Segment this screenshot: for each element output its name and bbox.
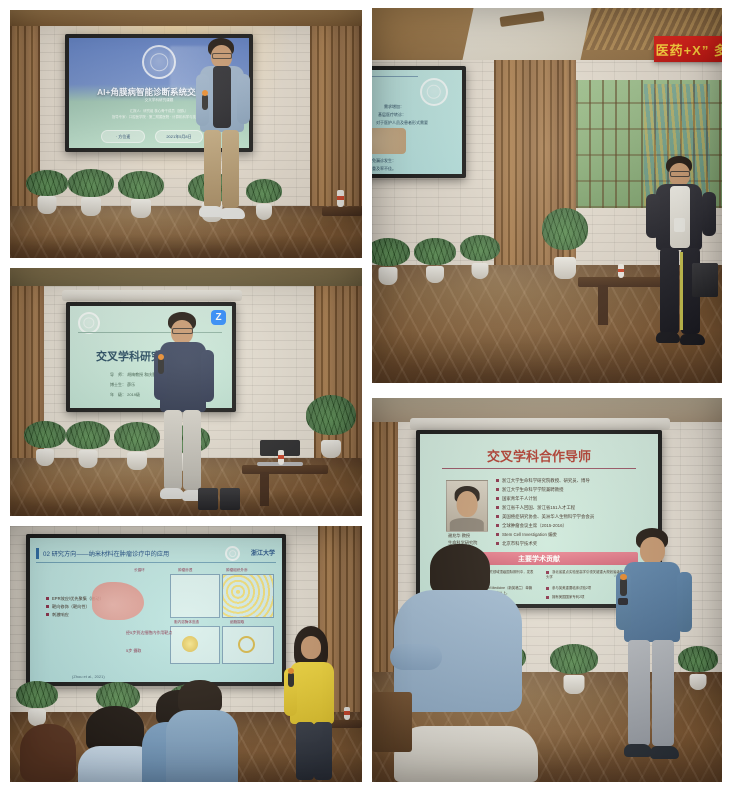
diagram-label: 长循环 — [134, 568, 145, 573]
field-3-value: 2019级 — [127, 392, 140, 397]
portrait-name: 谢兆华 教授 — [448, 533, 470, 539]
projection-screen-2: 需求增加： 基层医疗转诊： 对于医护人员及患者形式需要 避免漏诊发生： 构成重及… — [372, 66, 466, 178]
wood-panel-right — [310, 26, 362, 206]
screen-roller-case — [410, 418, 670, 430]
table-leg — [260, 472, 269, 506]
ceiling — [10, 10, 362, 26]
slide-3-field-3: 年 级： 2019级 — [110, 392, 140, 398]
slide-2-line-5: 构成重及率不佳。 — [372, 166, 396, 172]
slide-1-pill-left: · 方位速 — [101, 130, 145, 143]
slide-4-accent-bar — [36, 548, 39, 559]
plant-pot — [550, 646, 598, 694]
cell-graphic — [182, 636, 198, 652]
plant-pot — [68, 170, 114, 216]
slide-rule — [442, 468, 636, 469]
slide-2-line-1: 需求增加： — [384, 104, 404, 110]
advisor-bullet: Stem Cell Investigation 编委 — [496, 532, 557, 538]
slide-1-subtitle: 交叉学科研究课题 — [145, 98, 174, 103]
photo-4[interactable]: 02 研究方向——纳米材料在肿瘤诊疗中的应用 浙江大学 EPR效应/优先聚集（被… — [10, 526, 362, 782]
glasses-icon — [212, 53, 232, 59]
presenter-5 — [610, 528, 694, 780]
projection-screen-4: 02 研究方向——纳米材料在肿瘤诊疗中的应用 浙江大学 EPR效应/优先聚集（被… — [26, 534, 286, 686]
university-seal-icon — [420, 78, 448, 106]
slide-4-university: 浙江大学 — [251, 548, 275, 557]
plant-pot — [118, 172, 164, 218]
photo-5[interactable]: 交叉学科合作导师 谢兆华 教授 生命科学研究院 浙江大学生命科学研究院教授、研究… — [372, 398, 722, 782]
microphone-icon — [158, 358, 164, 374]
plant-pot — [66, 423, 110, 468]
tall-plant-right — [306, 380, 356, 458]
presenter-1 — [186, 38, 258, 238]
advisor-bullet: 美国癌症研究协会、美洲华人生物科学学会会员 — [496, 514, 594, 520]
laptop-table — [242, 465, 328, 474]
slide-2-line-2: 基层医疗转诊： — [378, 112, 406, 118]
plant-pot — [24, 422, 66, 466]
advisor-bullet: 国家青年千人计划 — [496, 496, 537, 502]
header-number: 02 — [43, 551, 50, 558]
slide-4-header: 02 研究方向——纳米材料在肿瘤诊疗中的应用 — [43, 549, 169, 558]
glasses-icon — [172, 328, 193, 334]
lanyard-badge — [674, 218, 685, 232]
slide-rule — [36, 562, 276, 563]
slide-5-title: 交叉学科合作导师 — [487, 446, 591, 465]
diagram-panel — [170, 574, 220, 618]
diagram-panel — [222, 574, 274, 618]
water-bottle — [344, 707, 350, 720]
sofa-seat — [394, 726, 538, 782]
slide-4-citation: (Zhou et al., 2021) — [72, 674, 105, 679]
advisor-bullet: 全球肿瘤会议主席（2015-2016） — [496, 523, 567, 529]
presenter-3 — [148, 312, 218, 512]
diagram-label: 细胞摄取 — [230, 620, 244, 625]
tall-palm-plant — [542, 193, 588, 279]
plant-pot — [16, 682, 58, 726]
slide-2-line-4: 避免漏诊发生： — [372, 158, 396, 164]
table-leg — [598, 285, 608, 325]
speaker-box — [220, 488, 240, 510]
hall-banner: “医药+X” 多 — [654, 36, 722, 62]
photo-3[interactable]: 交叉学科研究进展报告 导 师： 胡梅教授 和庆鹏研究员 博士生： 薛乐 年 级：… — [10, 268, 362, 516]
header-title: 研究方向——纳米材料在肿瘤诊疗中的应用 — [52, 551, 170, 558]
advisor-bullet: 浙江大学生命科学研究院教授、研究员、博导 — [496, 478, 590, 484]
water-bottle — [278, 450, 284, 465]
microphone-icon — [288, 672, 294, 687]
water-bottle — [618, 264, 624, 278]
tissue-graphic — [92, 582, 144, 620]
slide-4-bullet: 刺激响应 — [46, 612, 69, 618]
advisor-portrait — [446, 480, 488, 532]
plant-pot — [414, 239, 456, 283]
photo-collage: AI+角膜病智能诊断系统交叉研究 交叉学科研究课题 汇报人：研究组 核心骨干成员… — [0, 0, 730, 790]
speaker-box — [198, 488, 218, 510]
field-2-value: 薛乐 — [127, 382, 135, 387]
slide-2: 需求增加： 基层医疗转诊： 对于医护人员及患者形式需要 避免漏诊发生： 构成重及… — [372, 70, 462, 174]
audience-member — [166, 680, 238, 782]
trouser-stripe — [680, 252, 683, 330]
slide-1-credit-1: 汇报人：研究组 核心骨干成员（团队） — [130, 108, 189, 113]
field-2-label: 博士生： — [110, 382, 126, 387]
slide-3-field-2: 博士生： 薛乐 — [110, 382, 135, 388]
audience-member — [16, 724, 86, 782]
field-3-label: 年 级： — [110, 392, 126, 397]
water-bottle — [337, 190, 344, 207]
advisor-bullet: 浙江大学生命科学学院兼聘教授 — [496, 487, 563, 493]
slide-4: 02 研究方向——纳米材料在肿瘤诊疗中的应用 浙江大学 EPR效应/优先聚集（被… — [30, 538, 282, 682]
slide-4-annotation-1: 经5步到达细胞内作用靶点 — [126, 630, 172, 636]
university-seal-icon — [78, 312, 100, 334]
photo-1[interactable]: AI+角膜病智能诊断系统交叉研究 交叉学科研究课题 汇报人：研究组 核心骨干成员… — [10, 10, 362, 258]
screen-roller-case — [62, 290, 242, 301]
photo-2[interactable]: “医药+X” 多 需求增加： 基层医疗转诊： 对于医护人员及患者形式需要 避免漏… — [372, 8, 722, 383]
slide-4-annotation-2: 5步 摄取 — [126, 648, 141, 654]
speaker-box — [692, 263, 718, 297]
plant-pot — [26, 170, 68, 214]
microphone-icon — [202, 94, 208, 110]
advisor-bullet: 浙江省千人回国、浙江省151人才工程 — [496, 505, 575, 511]
slide-image-1 — [372, 128, 406, 154]
field-1-label: 导 师： — [110, 372, 126, 377]
wooden-chair-arm — [372, 692, 412, 752]
slide-rule — [372, 76, 418, 77]
seated-audience-member — [394, 544, 524, 744]
cell-graphic — [238, 636, 255, 653]
university-seal-icon — [225, 546, 240, 561]
diagram-label: 胞内溶酶体逃逸 — [174, 620, 199, 625]
slide-4-bullet: 靶向修饰（靶向性） — [46, 604, 90, 610]
microphone-icon — [620, 578, 627, 596]
plant-pot — [460, 237, 500, 279]
side-table — [322, 207, 362, 216]
wristwatch-icon — [618, 598, 628, 605]
diagram-label: 肿瘤渗透 — [178, 568, 192, 573]
presenter-4 — [282, 626, 342, 782]
slide-2-line-3: 对于医护人员及患者形式需要 — [376, 120, 428, 126]
glasses-icon — [670, 171, 690, 177]
ceiling — [10, 268, 362, 286]
diagram-label: 肿瘤组织外渗 — [226, 568, 248, 573]
plant-pot — [372, 239, 410, 285]
